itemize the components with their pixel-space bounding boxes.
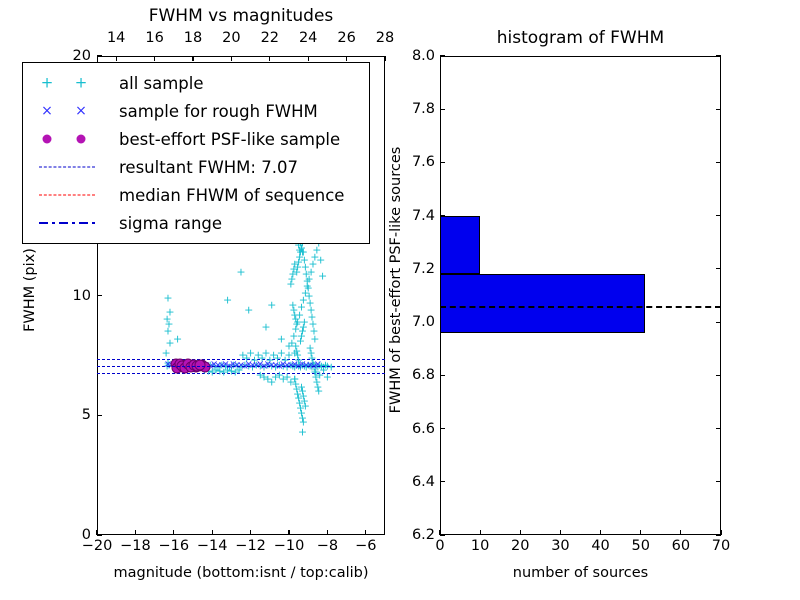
data-point-all-sample: + — [223, 295, 232, 306]
legend-item-label: all sample — [117, 74, 204, 93]
left-xlabel: magnitude (bottom:isnt / top:calib) — [97, 565, 385, 581]
cross-icon: × — [75, 104, 87, 118]
x-tick-label: −6 — [355, 538, 376, 554]
data-point-all-sample: + — [292, 319, 301, 330]
x-tick-label-top: 14 — [107, 30, 125, 46]
y-tick-label: 6.2 — [397, 527, 435, 543]
legend-item-label: best-effort PSF-like sample — [117, 130, 340, 149]
x-tick-label-top: 24 — [299, 30, 317, 46]
data-point-all-sample: + — [316, 254, 325, 265]
legend-marker — [29, 154, 117, 180]
x-tick-label: 50 — [631, 538, 649, 554]
dash-dot-line-icon — [39, 222, 95, 224]
dashed-line-icon — [39, 167, 95, 168]
right-ylabel: FWHM of best-effort PSF-like sources — [388, 100, 404, 460]
y-tick-label: 8.0 — [397, 48, 435, 64]
data-point-all-sample: + — [261, 321, 270, 332]
x-tick-label-top: 22 — [261, 30, 279, 46]
data-point-all-sample: + — [173, 333, 182, 344]
plus-icon: + — [41, 76, 54, 91]
x-tick-label-top: 28 — [376, 30, 394, 46]
right-panel-title: histogram of FWHM — [440, 28, 721, 48]
data-point-all-sample: + — [290, 259, 299, 270]
x-tick-label: −10 — [274, 538, 305, 554]
x-tick-label: 70 — [712, 538, 730, 554]
x-tick-label: −8 — [317, 538, 338, 554]
data-point-all-sample: + — [163, 326, 172, 337]
histogram-bar — [440, 216, 480, 275]
x-tick-label: −12 — [235, 538, 266, 554]
histogram-plot-area — [440, 56, 721, 535]
right-xlabel: number of sources — [440, 565, 721, 581]
x-tick-label: −14 — [197, 538, 228, 554]
x-tick-label: 30 — [551, 538, 569, 554]
data-point-all-sample: + — [298, 427, 307, 438]
histogram-bar — [440, 274, 645, 333]
y-tick-label: 5 — [55, 407, 91, 423]
median-line — [440, 306, 721, 308]
data-point-all-sample: + — [327, 362, 336, 373]
legend-marker — [29, 182, 117, 208]
legend-item-label: sample for rough FWHM — [117, 102, 318, 121]
y-tick-label: 6.4 — [397, 474, 435, 490]
data-point-all-sample: + — [267, 300, 276, 311]
dot-icon — [77, 135, 86, 144]
x-tick-label-top: 16 — [145, 30, 163, 46]
dashed-line-icon — [39, 195, 95, 196]
x-tick-label-top: 26 — [337, 30, 355, 46]
left-panel: FWHM vs magnitudes 1416182022242628 −20−… — [0, 0, 400, 600]
x-tick-label: −18 — [120, 538, 151, 554]
legend-marker — [29, 210, 117, 236]
x-tick-label: 20 — [511, 538, 529, 554]
data-point-all-sample: + — [163, 292, 172, 303]
legend-item: sigma range — [29, 209, 361, 237]
x-tick-label-top: 18 — [184, 30, 202, 46]
legend-marker — [29, 126, 117, 152]
x-tick-label: 60 — [672, 538, 690, 554]
data-point-all-sample: + — [318, 271, 327, 282]
x-tick-label: −16 — [158, 538, 189, 554]
legend-item: best-effort PSF-like sample — [29, 125, 361, 153]
left-panel-title: FWHM vs magnitudes — [97, 6, 385, 26]
y-tick-label: 10 — [55, 288, 91, 304]
legend-item-label: resultant FWHM: 7.07 — [117, 158, 298, 177]
data-point-all-sample: + — [314, 386, 323, 397]
resultant-fwhm-line-top — [97, 366, 385, 367]
data-point-all-sample: + — [290, 347, 299, 358]
legend-item-label: sigma range — [117, 214, 222, 233]
legend-item: ++all sample — [29, 69, 361, 97]
data-point-all-sample: + — [298, 247, 307, 258]
data-point-all-sample: + — [244, 304, 253, 315]
cross-icon: × — [41, 104, 53, 118]
y-tick-label: 0 — [55, 527, 91, 543]
legend-item: median FHWM of sequence — [29, 181, 361, 209]
plus-icon: + — [75, 76, 88, 91]
legend-marker: ++ — [29, 70, 117, 96]
x-tick-label: 0 — [435, 538, 444, 554]
dot-icon — [43, 135, 52, 144]
legend: ++all sample××sample for rough FWHMbest-… — [22, 62, 370, 244]
figure-canvas: FWHM vs magnitudes 1416182022242628 −20−… — [0, 0, 800, 600]
legend-marker: ×× — [29, 98, 117, 124]
legend-item-label: median FHWM of sequence — [117, 186, 344, 205]
x-tick-label: 40 — [591, 538, 609, 554]
legend-item: resultant FWHM: 7.07 — [29, 153, 361, 181]
data-point-all-sample: + — [301, 400, 310, 411]
legend-item: ××sample for rough FWHM — [29, 97, 361, 125]
x-tick-label: 10 — [471, 538, 489, 554]
x-tick-label-top: 20 — [222, 30, 240, 46]
data-point-all-sample: + — [236, 266, 245, 277]
right-panel: histogram of FWHM 010203040506070 6.26.4… — [400, 0, 800, 600]
